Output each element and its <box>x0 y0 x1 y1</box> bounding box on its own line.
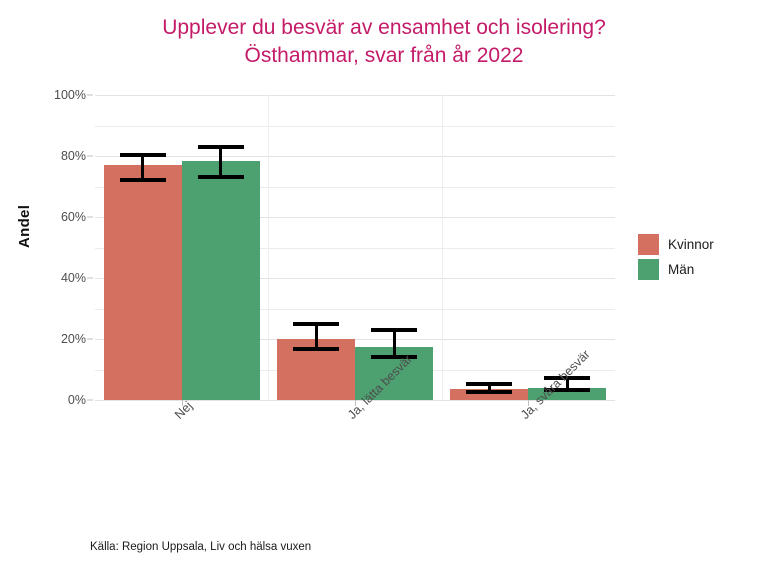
plot-area: 0%20%40%60%80%100% <box>95 95 615 400</box>
y-tick-mark <box>87 278 93 279</box>
source-caption: Källa: Region Uppsala, Liv och hälsa vux… <box>90 541 311 553</box>
chart-title: Upplever du besvär av ensamhet och isole… <box>0 14 768 70</box>
category-separator <box>268 95 269 400</box>
y-axis-label: Andel <box>16 205 33 248</box>
error-bar <box>104 153 182 182</box>
bar-man[interactable] <box>182 161 260 400</box>
error-bar-stem <box>219 145 222 179</box>
y-tick-mark <box>87 339 93 340</box>
y-tick-mark <box>87 156 93 157</box>
y-tick-mark <box>87 217 93 218</box>
legend-label-man: Män <box>668 262 694 277</box>
y-tick-label: 20% <box>61 332 86 346</box>
legend-swatch-icon-kvinnor <box>638 234 659 255</box>
error-bar <box>277 322 355 351</box>
legend-item-man[interactable]: Män <box>638 257 714 282</box>
y-tick-label: 100% <box>54 88 86 102</box>
y-tick-label: 60% <box>61 210 86 224</box>
chart-container: Upplever du besvär av ensamhet och isole… <box>0 0 768 576</box>
y-tick-label: 80% <box>61 149 86 163</box>
gridline-major <box>95 95 615 96</box>
y-tick-mark <box>87 95 93 96</box>
y-tick-label: 40% <box>61 271 86 285</box>
error-bar-cap-lower <box>120 178 166 182</box>
y-tick-label: 0% <box>68 393 86 407</box>
error-bar <box>450 382 528 394</box>
error-bar <box>355 328 433 359</box>
error-bar <box>182 145 260 179</box>
bar-kvinnor[interactable] <box>104 165 182 400</box>
error-bar-cap-lower <box>198 175 244 179</box>
legend-item-kvinnor[interactable]: Kvinnor <box>638 232 714 257</box>
gridline-minor <box>95 126 615 127</box>
y-tick-mark <box>87 400 93 401</box>
legend-label-kvinnor: Kvinnor <box>668 237 714 252</box>
error-bar-cap-lower <box>466 390 512 394</box>
x-axis-label: Nej <box>172 399 195 422</box>
legend-swatch-icon-man <box>638 259 659 280</box>
category-separator <box>442 95 443 400</box>
error-bar-cap-lower <box>293 347 339 351</box>
chart-legend: Kvinnor Män <box>638 232 714 282</box>
